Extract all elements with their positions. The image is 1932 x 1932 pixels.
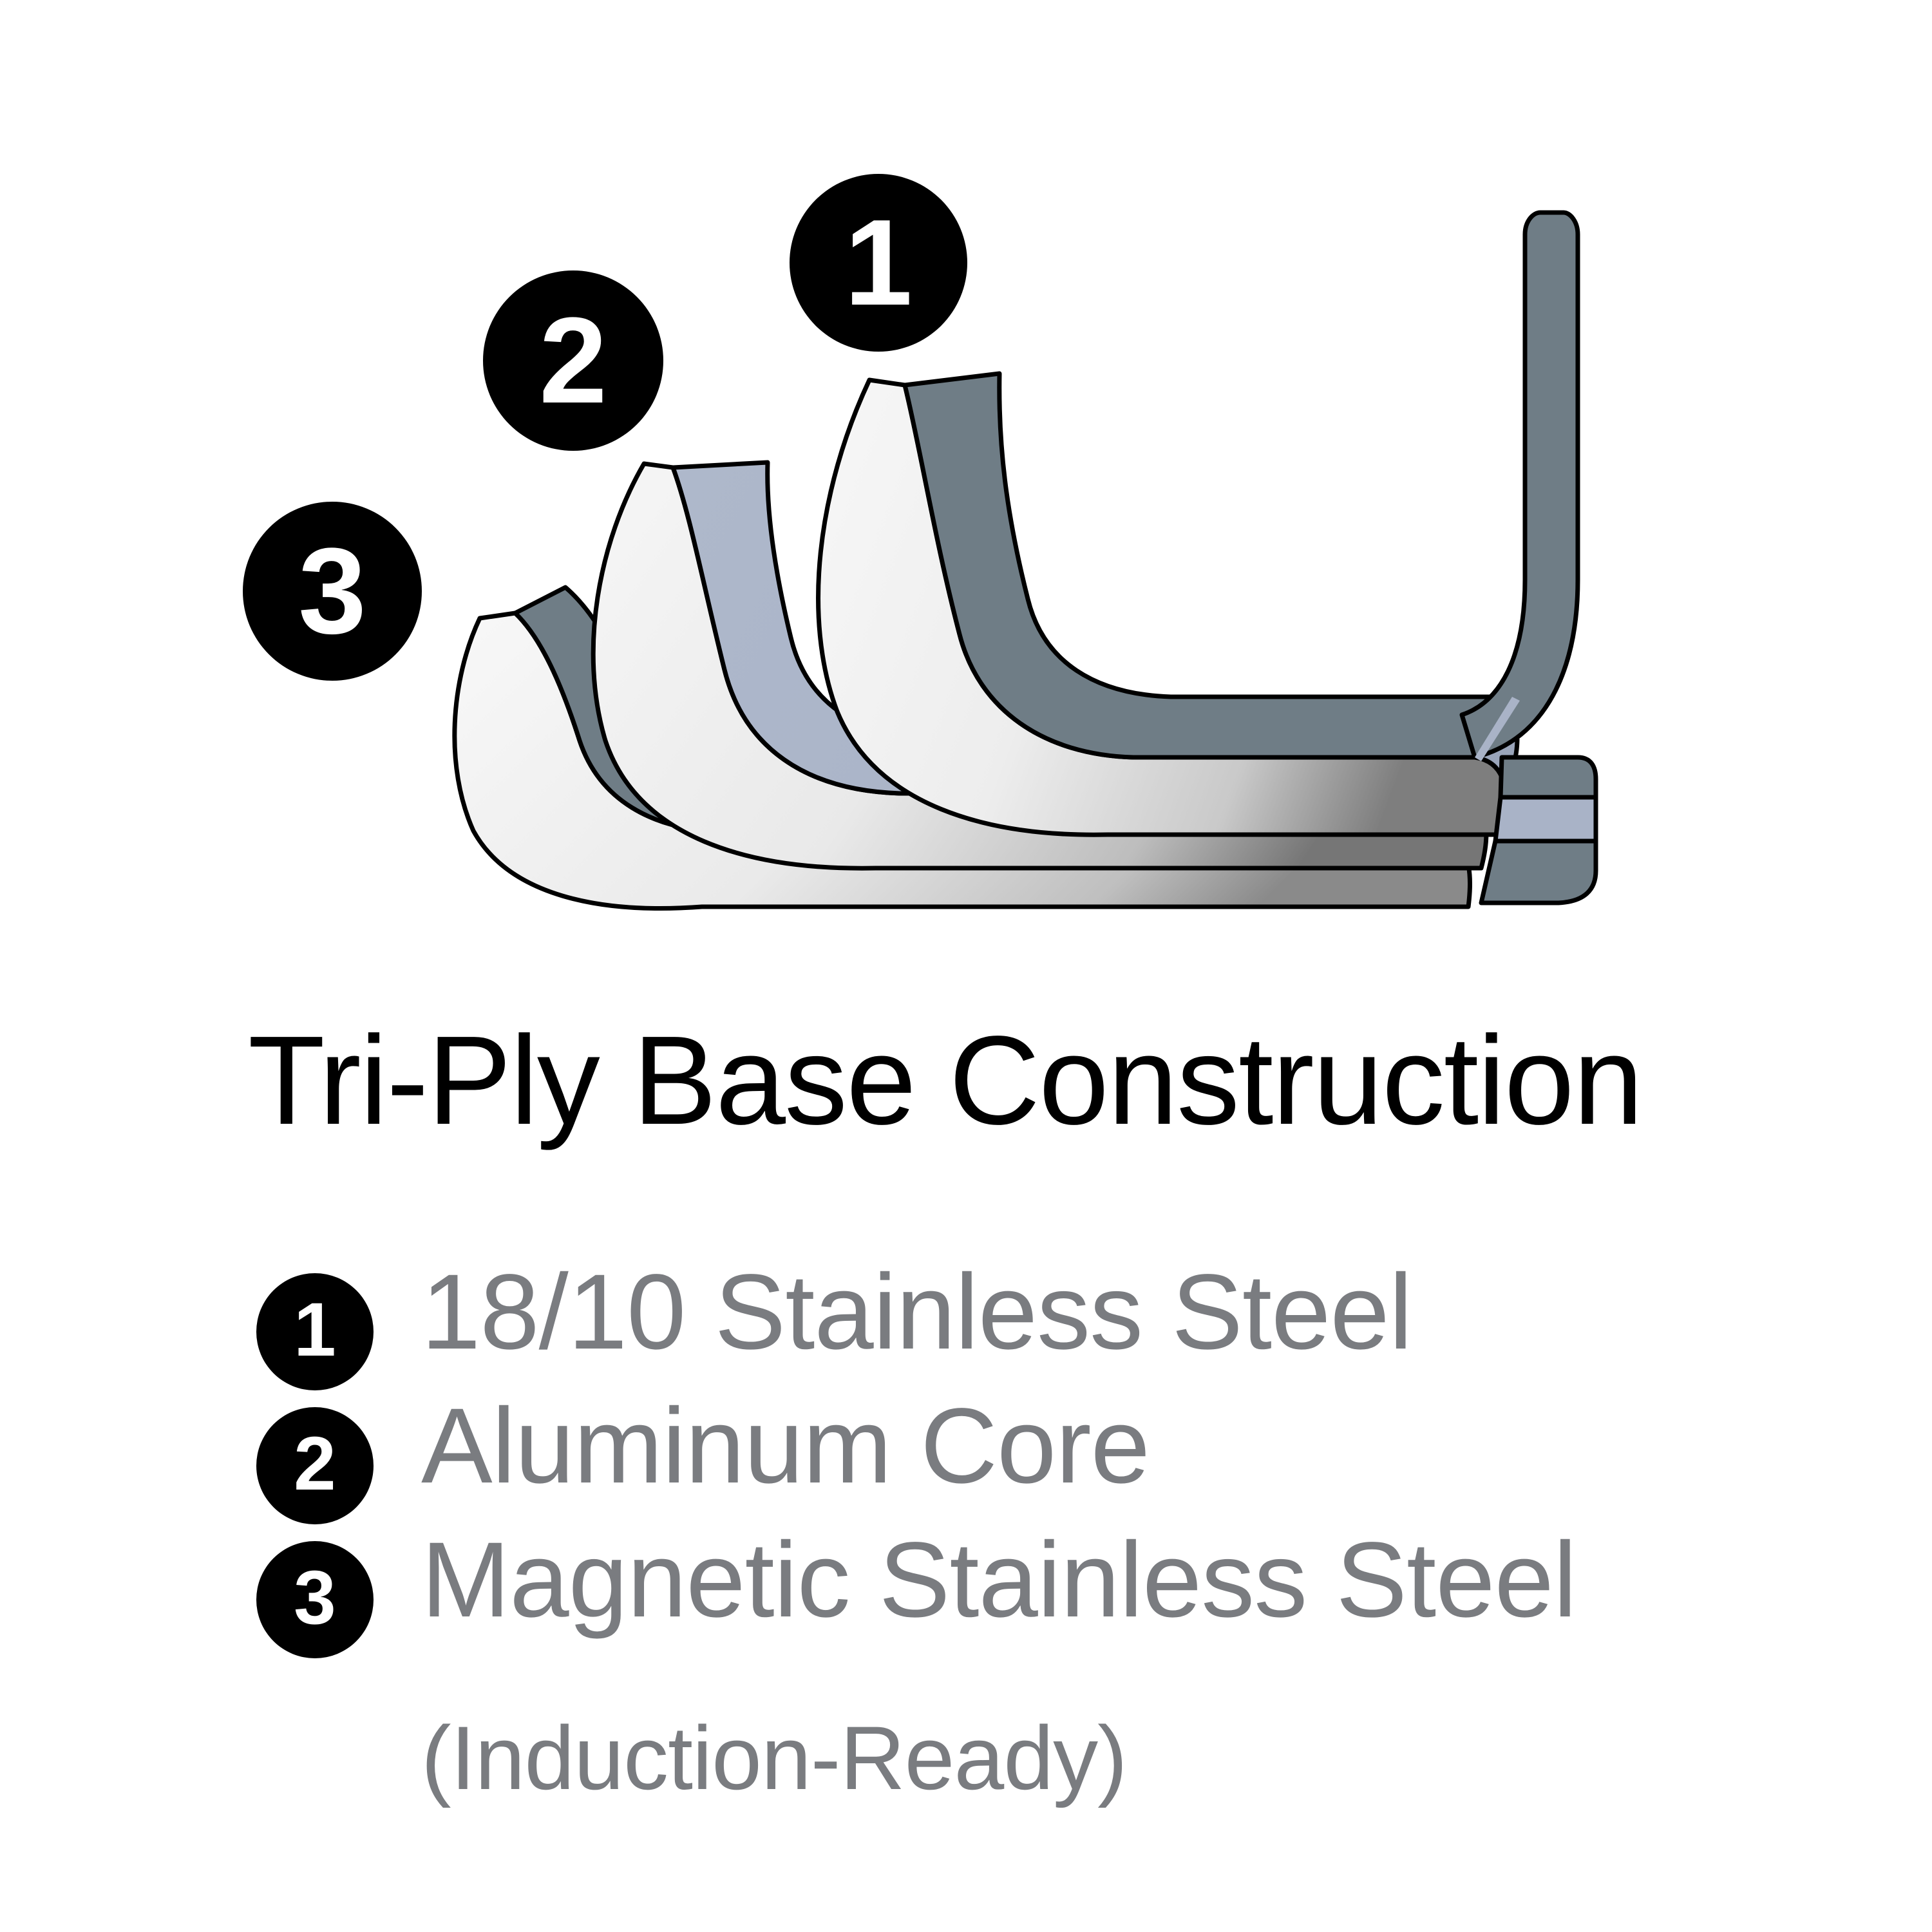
callout-2-number: 2 (539, 292, 607, 429)
legend-badge-3: 3 (256, 1541, 374, 1658)
legend-label-2: Aluminum Core (421, 1393, 1899, 1500)
pan-cross-section-diagram: 1 2 3 (0, 0, 1932, 979)
legend-sub-note: (Induction-Ready) (421, 1713, 1127, 1803)
legend-badge-2: 2 (256, 1407, 374, 1524)
callout-badge-2[interactable]: 2 (483, 270, 663, 451)
legend-badge-1: 1 (256, 1273, 374, 1390)
page-title: Tri-Ply Base Construction (248, 1018, 1858, 1144)
tri-ply-infographic: 1 2 3 Tri-Ply Base Construction 1 18/10 … (0, 0, 1932, 1932)
legend-item-3: 3 Magnetic Stainless Steel (256, 1527, 1899, 1649)
legend-item-1: 1 18/10 Stainless Steel (256, 1259, 1899, 1381)
base-ply-2-aluminum (1495, 797, 1596, 841)
layer-1-steel-edge (905, 374, 1512, 757)
callout-1-number: 1 (844, 194, 913, 331)
pan-cross-section-svg: 1 2 3 (0, 0, 1932, 979)
legend-item-2: 2 Aluminum Core (256, 1393, 1899, 1515)
pan-wall-steel (1462, 213, 1578, 757)
base-ply-1-stainless (1501, 757, 1596, 797)
pan-side-wall (1462, 213, 1578, 761)
layer-1-stainless-steel (819, 374, 1512, 835)
legend: 1 18/10 Stainless Steel 2 Aluminum Core … (256, 1259, 1899, 1661)
base-ply-3-magnetic (1481, 841, 1596, 903)
legend-label-1: 18/10 Stainless Steel (421, 1259, 1899, 1366)
callout-badge-3[interactable]: 3 (243, 502, 422, 681)
callout-3-number: 3 (298, 523, 366, 659)
callout-badge-1[interactable]: 1 (790, 174, 967, 352)
legend-label-3: Magnetic Stainless Steel (421, 1527, 1899, 1634)
